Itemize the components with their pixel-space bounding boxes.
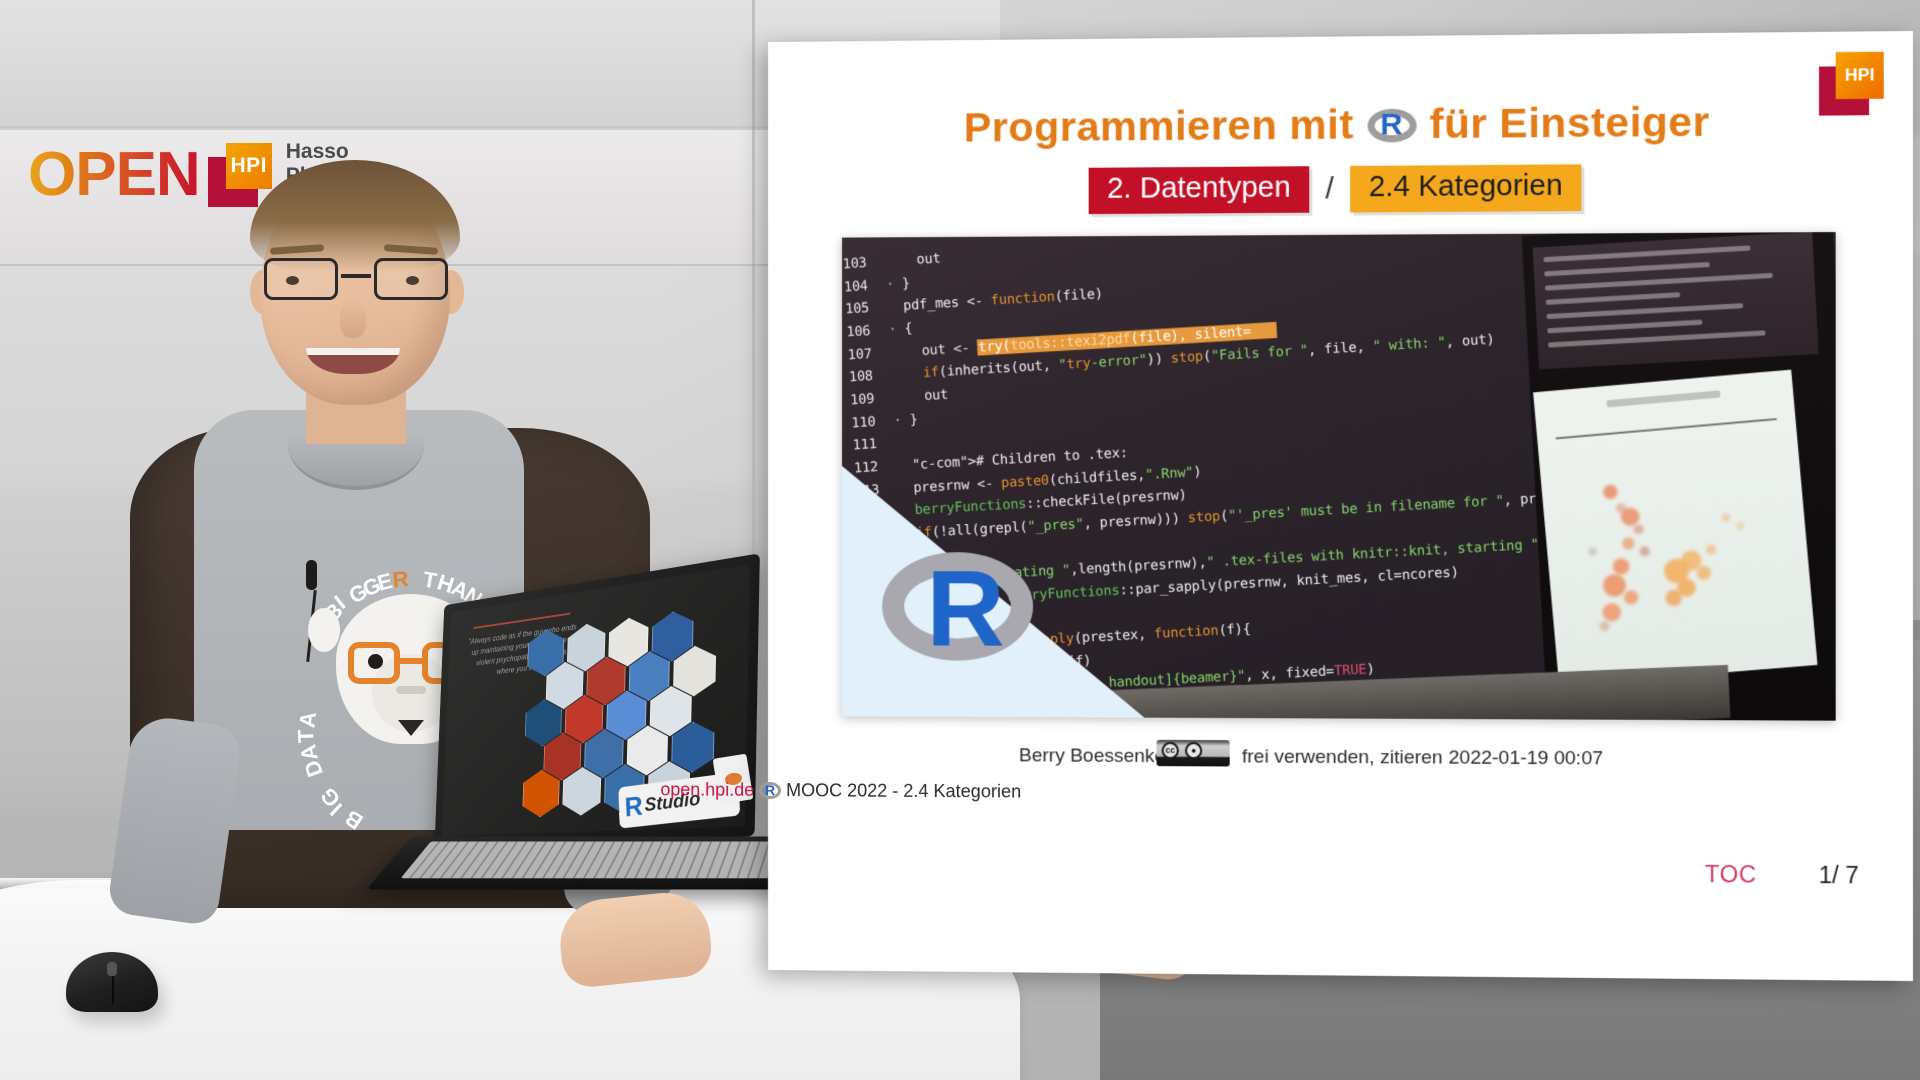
scatter-point <box>1633 524 1644 535</box>
toc-link[interactable]: TOC <box>1705 861 1757 889</box>
presenter-hand-left <box>556 888 714 989</box>
plot-axis-line <box>1556 418 1777 439</box>
cc-license-badge-icon[interactable]: cc ● <box>1157 740 1230 767</box>
scatter-point <box>1623 589 1639 604</box>
slide-title: Programmieren mit R für Einsteiger <box>768 96 1913 153</box>
scatter-point <box>1612 558 1630 576</box>
monkey-nose <box>396 686 426 694</box>
scatter-point <box>1588 547 1597 556</box>
rstudio-sticker-r: R <box>624 789 643 823</box>
photo-plot-window <box>1533 370 1817 686</box>
slide-hpi-label: HPI <box>1836 52 1884 99</box>
scatter-point <box>1705 545 1716 556</box>
footer-source: open.hpi.de R MOOC 2022 - 2.4 Kategorien <box>660 779 1021 802</box>
presenter-hair <box>250 160 460 272</box>
cc-icon: cc <box>1162 741 1179 758</box>
laptop-base[interactable] <box>366 836 825 889</box>
footer-r-logo-letter: R <box>759 782 781 799</box>
plot-scatter-points <box>1533 370 1791 393</box>
footer-datetime: 2022-01-19 00:07 <box>1449 747 1604 770</box>
glasses-icon <box>262 258 450 302</box>
monkey-glasses-bridge <box>400 658 422 664</box>
footer-source-text: MOOC 2022 - 2.4 Kategorien <box>786 780 1021 802</box>
slide-title-before: Programmieren mit <box>964 101 1354 151</box>
slide-photo: 103 out104· }105 pdf_mes <- function(fil… <box>842 232 1836 721</box>
breadcrumb-section-badge[interactable]: 2.4 Kategorien <box>1350 164 1581 212</box>
scatter-point <box>1639 546 1650 557</box>
scatter-point <box>1602 484 1618 499</box>
breadcrumb-separator: / <box>1325 172 1334 206</box>
glasses-lens-right <box>374 258 448 300</box>
r-logo-icon: R <box>1367 106 1416 143</box>
photo-secondary-monitor <box>1522 232 1836 721</box>
r-logo-letter: R <box>1367 106 1416 143</box>
scatter-point <box>1599 620 1610 631</box>
monkey-eye-left <box>368 654 383 669</box>
presenter-nose <box>340 300 366 338</box>
glasses-lens-left <box>264 258 338 300</box>
glasses-bridge <box>341 274 371 278</box>
scatter-point <box>1721 513 1730 522</box>
slide-footer: Berry Boessenkool cc ● frei verwenden, z… <box>768 732 1913 860</box>
scatter-point <box>1602 602 1622 622</box>
breadcrumb: 2. Datentypen / 2.4 Kategorien <box>768 162 1913 216</box>
slide-title-after: für Einsteiger <box>1430 98 1710 148</box>
scatter-point <box>1736 521 1745 530</box>
screenshot-stage: OPEN HPI Hasso Plattner Institut <box>0 0 1920 1080</box>
scatter-point <box>1602 573 1627 597</box>
cc-by-person-icon: ● <box>1185 742 1202 759</box>
breadcrumb-chapter-badge[interactable]: 2. Datentypen <box>1089 166 1309 214</box>
scatter-point <box>1622 537 1635 550</box>
photo-secondary-console <box>1533 232 1819 369</box>
photo-r-logo-letter: R <box>926 554 1005 663</box>
page-number: 1/ 7 <box>1819 862 1859 890</box>
footer-r-logo-icon: R <box>759 782 781 799</box>
monkey-ear-left <box>308 608 340 652</box>
footer-license-text: frei verwenden, zitieren <box>1242 746 1443 769</box>
photo-r-logo-icon: R <box>882 552 1033 673</box>
footer-source-url[interactable]: open.hpi.de <box>660 779 754 801</box>
scatter-point <box>1696 565 1712 580</box>
laptop-keyboard[interactable] <box>401 841 796 878</box>
presentation-slide: HPI Programmieren mit R für Einsteiger 2… <box>768 31 1913 981</box>
plot-title-placeholder <box>1606 390 1720 407</box>
mouse-scroll-wheel[interactable] <box>107 962 117 976</box>
